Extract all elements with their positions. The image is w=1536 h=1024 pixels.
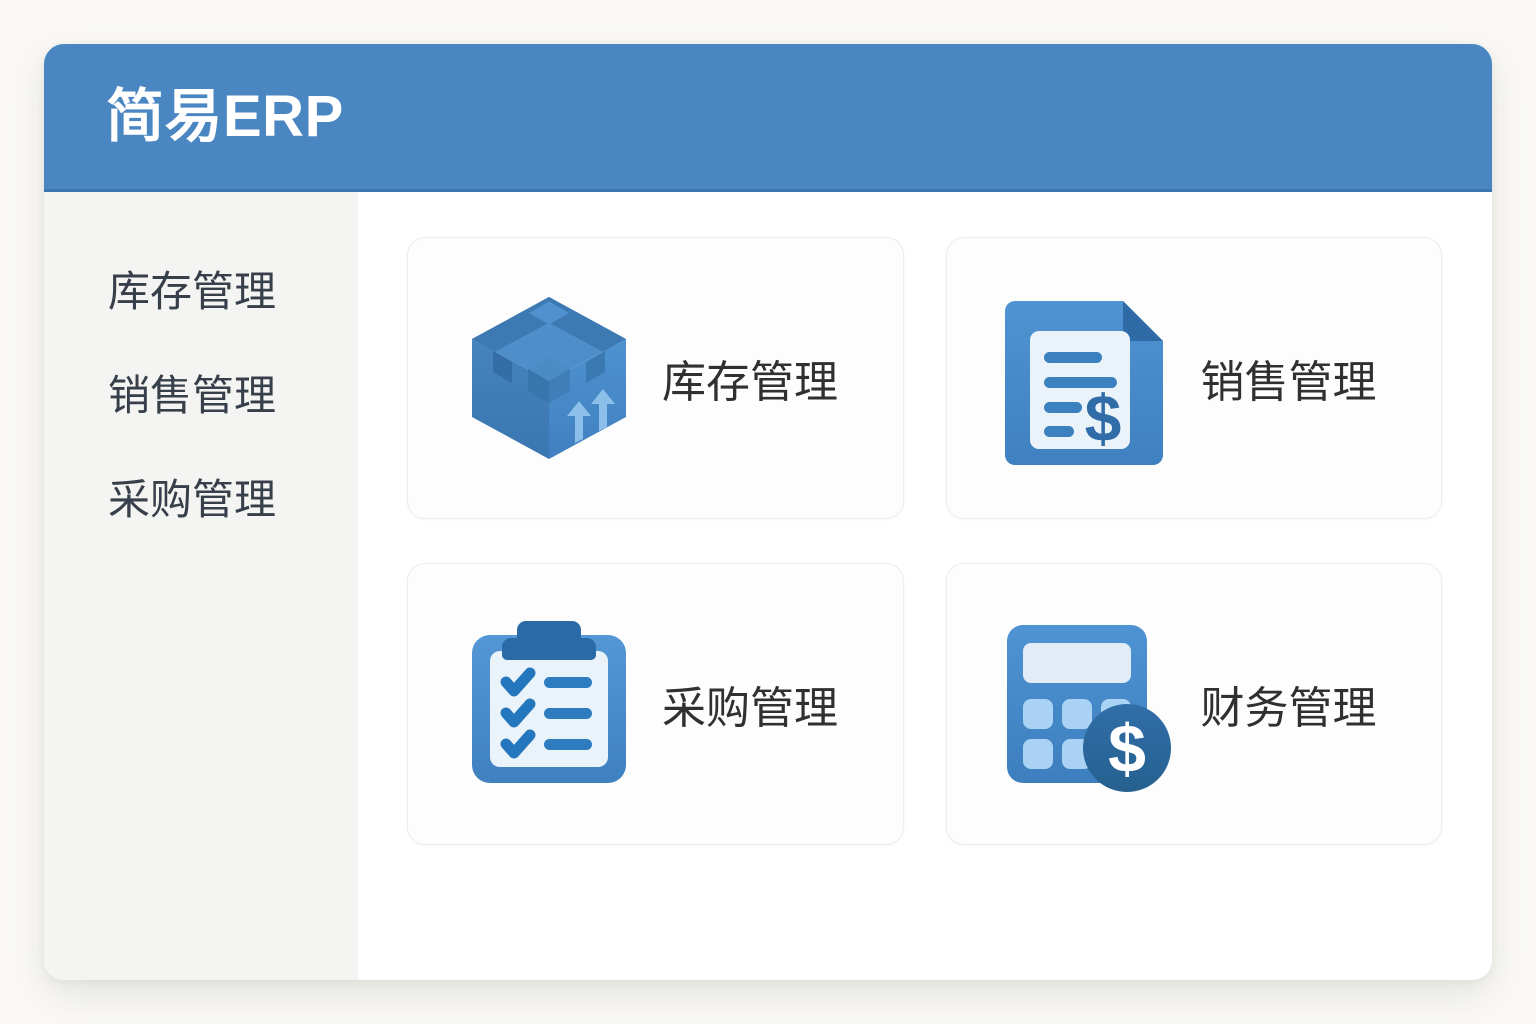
module-card-purchasing[interactable]: 采购管理 (407, 563, 904, 845)
calculator-money-icon: $ (993, 609, 1183, 799)
svg-text:$: $ (1108, 711, 1146, 787)
content-area: 库存管理 (358, 192, 1492, 980)
module-card-label: 库存管理 (662, 346, 838, 410)
sidebar-item-label: 采购管理 (108, 466, 276, 527)
svg-text:$: $ (1084, 381, 1121, 455)
module-card-label: 财务管理 (1201, 672, 1377, 736)
sidebar-item-sales[interactable]: 销售管理 (44, 340, 358, 444)
module-card-inventory[interactable]: 库存管理 (407, 237, 904, 519)
module-card-label: 采购管理 (662, 672, 838, 736)
module-grid: 库存管理 (407, 237, 1442, 845)
module-card-finance[interactable]: $ 财务管理 (946, 563, 1443, 845)
package-box-icon (454, 283, 644, 473)
app-title: 简易ERP (106, 88, 344, 146)
sidebar-item-inventory[interactable]: 库存管理 (44, 236, 358, 340)
title-bar: 简易ERP (44, 44, 1492, 192)
app-window: 简易ERP 库存管理 销售管理 采购管理 (44, 44, 1492, 980)
module-card-sales[interactable]: $ 销售管理 (946, 237, 1443, 519)
sidebar: 库存管理 销售管理 采购管理 (44, 192, 358, 980)
module-card-label: 销售管理 (1201, 346, 1377, 410)
sidebar-item-label: 销售管理 (108, 362, 276, 423)
invoice-document-icon: $ (993, 283, 1183, 473)
sidebar-item-purchasing[interactable]: 采购管理 (44, 444, 358, 548)
sidebar-item-label: 库存管理 (108, 258, 276, 319)
clipboard-checklist-icon (454, 609, 644, 799)
window-body: 库存管理 销售管理 采购管理 (44, 192, 1492, 980)
